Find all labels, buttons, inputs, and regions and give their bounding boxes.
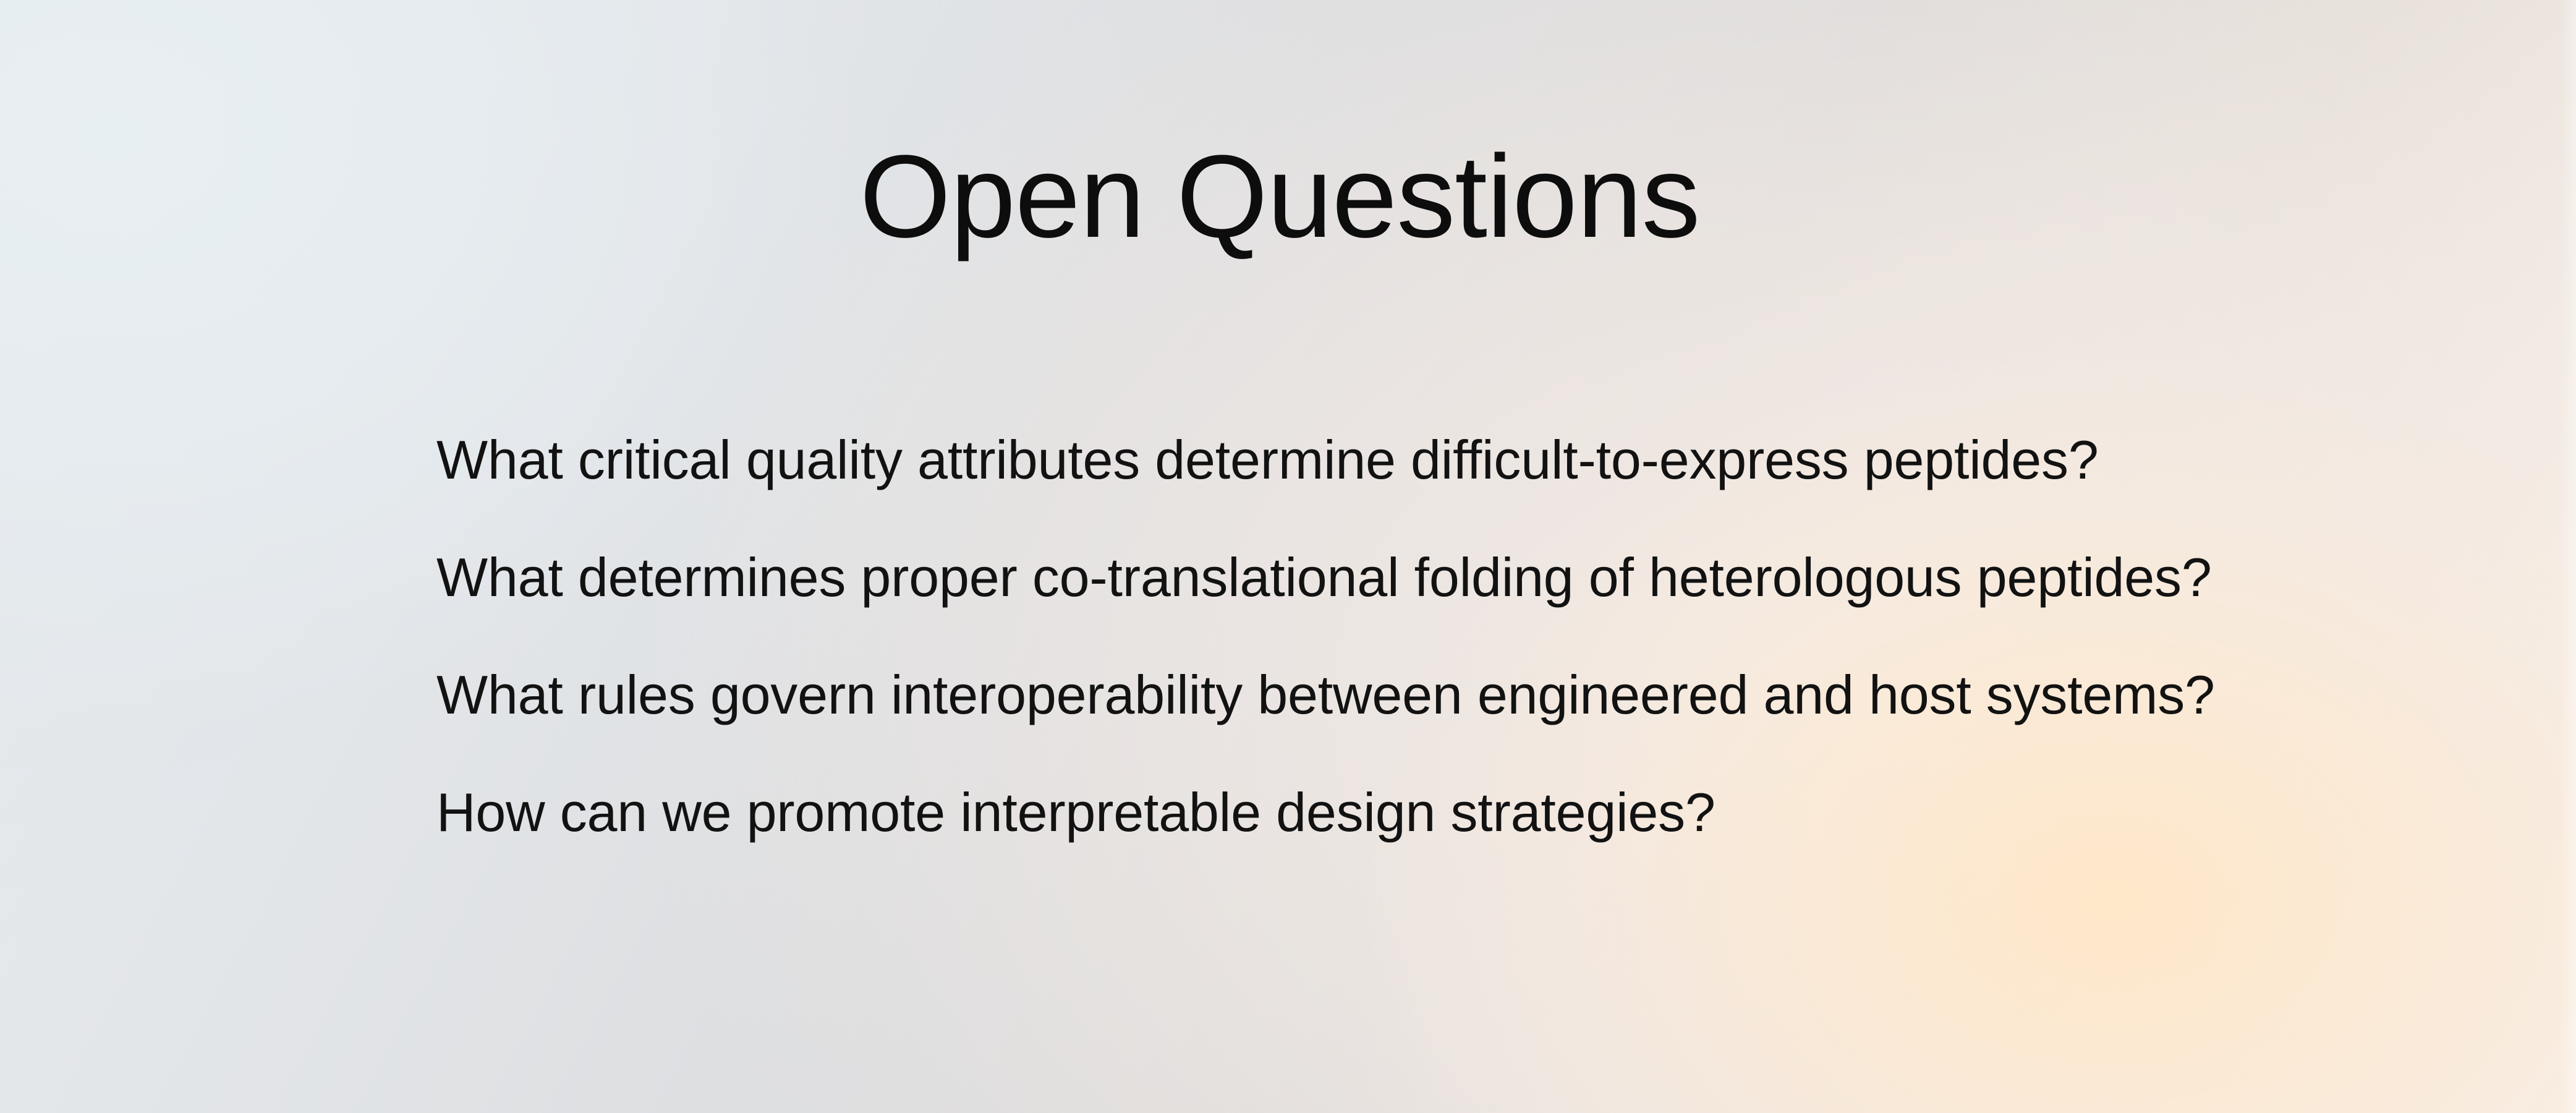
right-edge-highlight bbox=[2560, 0, 2576, 1113]
list-item: What rules govern interoperability betwe… bbox=[436, 668, 2476, 722]
question-list: What critical quality attributes determi… bbox=[436, 433, 2476, 840]
presentation-slide: Open Questions What critical quality att… bbox=[0, 0, 2576, 1113]
page-title: Open Questions bbox=[0, 138, 2559, 255]
list-item: How can we promote interpretable design … bbox=[436, 785, 2476, 840]
list-item: What determines proper co-translational … bbox=[436, 550, 2476, 605]
list-item: What critical quality attributes determi… bbox=[436, 433, 2476, 487]
